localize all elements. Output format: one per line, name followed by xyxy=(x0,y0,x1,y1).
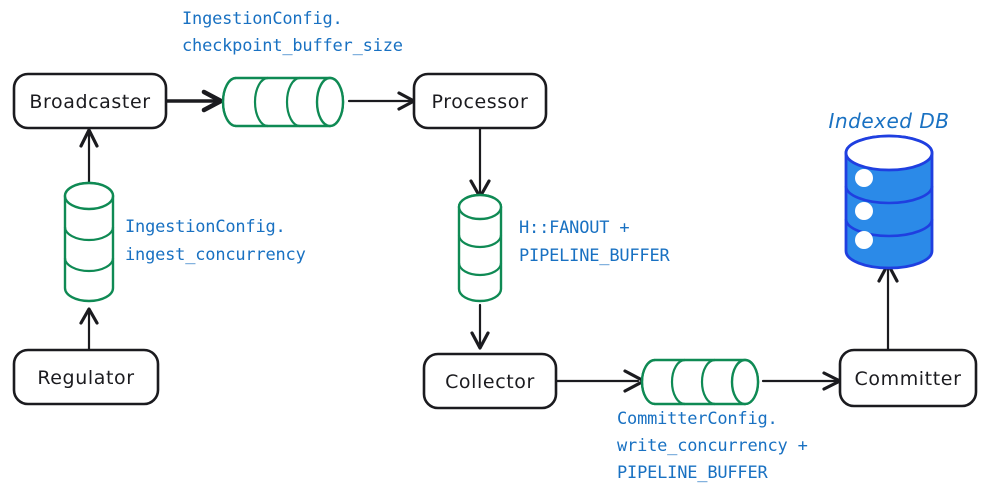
annotation-checkpoint-line2: checkpoint_buffer_size xyxy=(182,36,403,56)
annotation-ingest-line1: IngestionConfig. xyxy=(125,217,286,237)
edge-regulator-to-ingest-buffer xyxy=(81,309,97,349)
node-broadcaster[interactable]: Broadcaster xyxy=(14,74,166,128)
indexed-db[interactable] xyxy=(846,136,932,268)
annotation-ingest-line2: ingest_concurrency xyxy=(125,245,306,265)
diagram-canvas: Broadcaster Processor Regulator Collecto… xyxy=(0,0,987,492)
edge-processor-to-fanout-buffer xyxy=(471,128,489,197)
node-regulator[interactable]: Regulator xyxy=(14,350,158,404)
db-indicator-dot xyxy=(855,231,873,249)
node-collector-label: Collector xyxy=(445,371,535,393)
indexed-db-title: Indexed DB xyxy=(829,109,950,133)
edge-collector-to-write-buffer xyxy=(556,371,644,391)
annotation-write-line2: write_concurrency + xyxy=(617,436,808,456)
edge-checkpoint-buffer-to-processor xyxy=(349,93,414,109)
node-committer[interactable]: Committer xyxy=(840,350,976,406)
edge-committer-to-indexed-db xyxy=(879,264,897,349)
node-processor-label: Processor xyxy=(432,91,529,113)
annotation-fanout-line2: PIPELINE_BUFFER xyxy=(519,246,670,266)
edge-write-buffer-to-committer xyxy=(763,373,840,389)
annotation-write-concurrency: CommitterConfig. write_concurrency + PIP… xyxy=(617,409,808,483)
edge-ingest-buffer-to-broadcaster xyxy=(81,130,97,183)
node-processor[interactable]: Processor xyxy=(414,74,546,128)
edge-fanout-buffer-to-collector xyxy=(472,305,488,348)
buffer-checkpoint-buffer xyxy=(223,78,343,126)
buffer-write-buffer xyxy=(642,360,758,404)
buffer-fanout-buffer xyxy=(459,195,501,301)
annotation-fanout-pipeline-buffer: H::FANOUT + PIPELINE_BUFFER xyxy=(519,218,670,266)
db-indicator-dot xyxy=(855,169,873,187)
annotation-checkpoint-buffer-size: IngestionConfig. checkpoint_buffer_size xyxy=(182,9,403,56)
edge-broadcaster-to-checkpoint-buffer xyxy=(164,92,221,110)
node-collector[interactable]: Collector xyxy=(424,354,556,408)
annotation-write-line3: PIPELINE_BUFFER xyxy=(617,463,768,483)
annotation-write-line1: CommitterConfig. xyxy=(617,409,778,429)
node-broadcaster-label: Broadcaster xyxy=(29,91,150,113)
annotation-checkpoint-line1: IngestionConfig. xyxy=(182,9,343,29)
node-regulator-label: Regulator xyxy=(37,367,134,389)
buffer-ingest-buffer xyxy=(65,183,113,301)
annotation-ingest-concurrency: IngestionConfig. ingest_concurrency xyxy=(125,217,306,265)
db-indicator-dot xyxy=(855,202,873,220)
pipeline-diagram: Broadcaster Processor Regulator Collecto… xyxy=(0,0,987,492)
annotation-fanout-line1: H::FANOUT + xyxy=(519,218,629,238)
node-committer-label: Committer xyxy=(855,368,962,390)
